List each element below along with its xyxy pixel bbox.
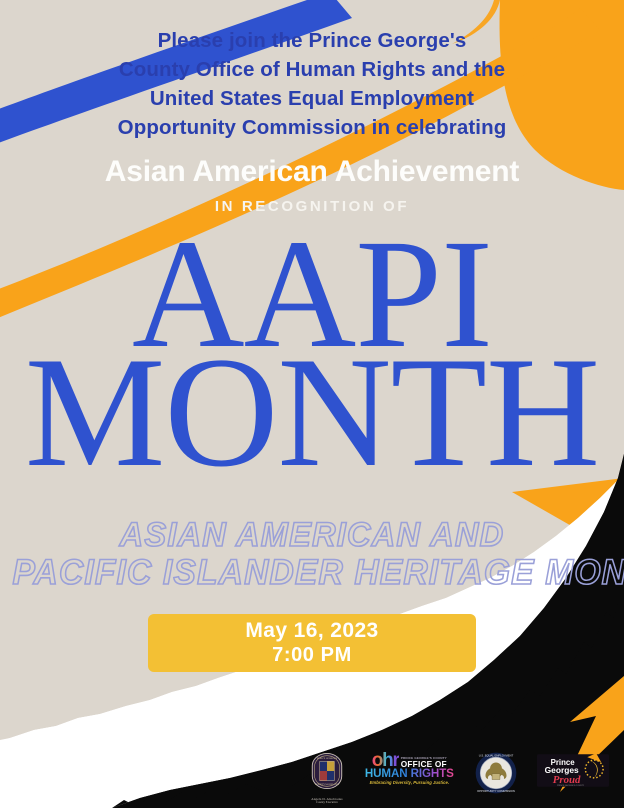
subtitle-line-2: PACIFIC ISLANDER HERITAGE MONTH (12, 554, 611, 592)
ohr-human-rights: HUMAN RIGHTS (365, 768, 454, 780)
svg-text:Proud: Proud (553, 774, 581, 786)
intro-line-1: Please join the Prince George's (0, 26, 624, 55)
poster-content: Please join the Prince George's County O… (0, 0, 624, 808)
event-time: 7:00 PM (272, 643, 352, 668)
sponsor-logo-bar: PRINCE GEORGE'S COUNTY MARYLAND Angela D… (310, 752, 610, 804)
svg-text:PRINCE GEORGE'S: PRINCE GEORGE'S (317, 757, 338, 760)
aapi-month-flyer: Please join the Prince George's County O… (0, 0, 624, 808)
intro-line-4: Opportunity Commission in celebrating (0, 113, 624, 142)
subtitle-block: ASIAN AMERICAN AND PACIFIC ISLANDER HERI… (0, 516, 624, 592)
svg-text:PRINCE GEORGE'S COUNTY: PRINCE GEORGE'S COUNTY (557, 785, 585, 787)
month-title-line: MONTH (0, 322, 624, 504)
county-seal-logo: PRINCE GEORGE'S COUNTY MARYLAND Angela D… (310, 752, 344, 806)
county-executive-title: County Executive (311, 801, 342, 805)
event-date: May 16, 2023 (245, 618, 378, 643)
svg-text:COUNTY MARYLAND: COUNTY MARYLAND (315, 783, 339, 786)
eeoc-seal-icon: U.S. EQUAL EMPLOYMENT OPPORTUNITY COMMIS… (475, 752, 517, 794)
svg-text:OPPORTUNITY COMMISSION: OPPORTUNITY COMMISSION (477, 789, 515, 793)
pg-proud-icon: Prince Georges Proud PRINCE GEORGE'S COU… (536, 752, 610, 789)
ohr-logo: ohr PRINCE GEORGE'S COUNTY OFFICE OF HUM… (363, 752, 455, 786)
intro-line-3: United States Equal Employment (0, 84, 624, 113)
intro-line-2: County Office of Human Rights and the (0, 55, 624, 84)
event-datetime-badge: May 16, 2023 7:00 PM (148, 614, 476, 672)
ohr-tagline: Embracing Diversity, Pursuing Justice. (370, 780, 449, 786)
subtitle-line-1: ASIAN AMERICAN AND (12, 516, 611, 554)
county-seal-icon: PRINCE GEORGE'S COUNTY MARYLAND (310, 752, 344, 795)
intro-paragraph: Please join the Prince George's County O… (0, 26, 624, 142)
svg-text:U.S. EQUAL EMPLOYMENT: U.S. EQUAL EMPLOYMENT (478, 754, 513, 758)
achievement-headline: Asian American Achievement (0, 154, 624, 190)
eeoc-logo: U.S. EQUAL EMPLOYMENT OPPORTUNITY COMMIS… (475, 752, 517, 794)
pg-proud-logo: Prince Georges Proud PRINCE GEORGE'S COU… (536, 752, 610, 789)
county-seal-caption: Angela D. Alsobrooks County Executive (311, 797, 342, 806)
